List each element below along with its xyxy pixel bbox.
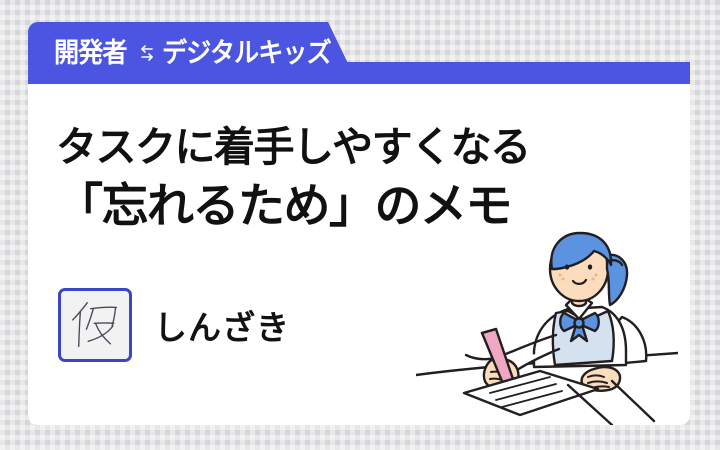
avatar — [58, 288, 132, 362]
banner-content: 開発者 デジタルキッズ — [54, 22, 343, 84]
banner-left-label: 開発者 — [54, 40, 127, 67]
swap-arrows-icon — [139, 44, 155, 62]
student-writing-notes-illustration — [416, 225, 678, 425]
content-card: タスクに着手しやすくなる 「忘れるため」のメモ — [28, 84, 690, 425]
slide-canvas: タスクに着手しやすくなる 「忘れるため」のメモ — [0, 0, 720, 450]
banner-right-label: デジタルキッズ — [162, 40, 331, 67]
header-banner: 開発者 デジタルキッズ — [28, 22, 690, 84]
handwritten-kari-kanji-icon — [65, 295, 125, 355]
author-name: しんざき — [154, 301, 290, 349]
headline-line-1: タスクに着手しやすくなる — [56, 120, 616, 174]
author-block: しんざき — [58, 288, 290, 362]
headline-block: タスクに着手しやすくなる 「忘れるため」のメモ — [56, 120, 616, 238]
